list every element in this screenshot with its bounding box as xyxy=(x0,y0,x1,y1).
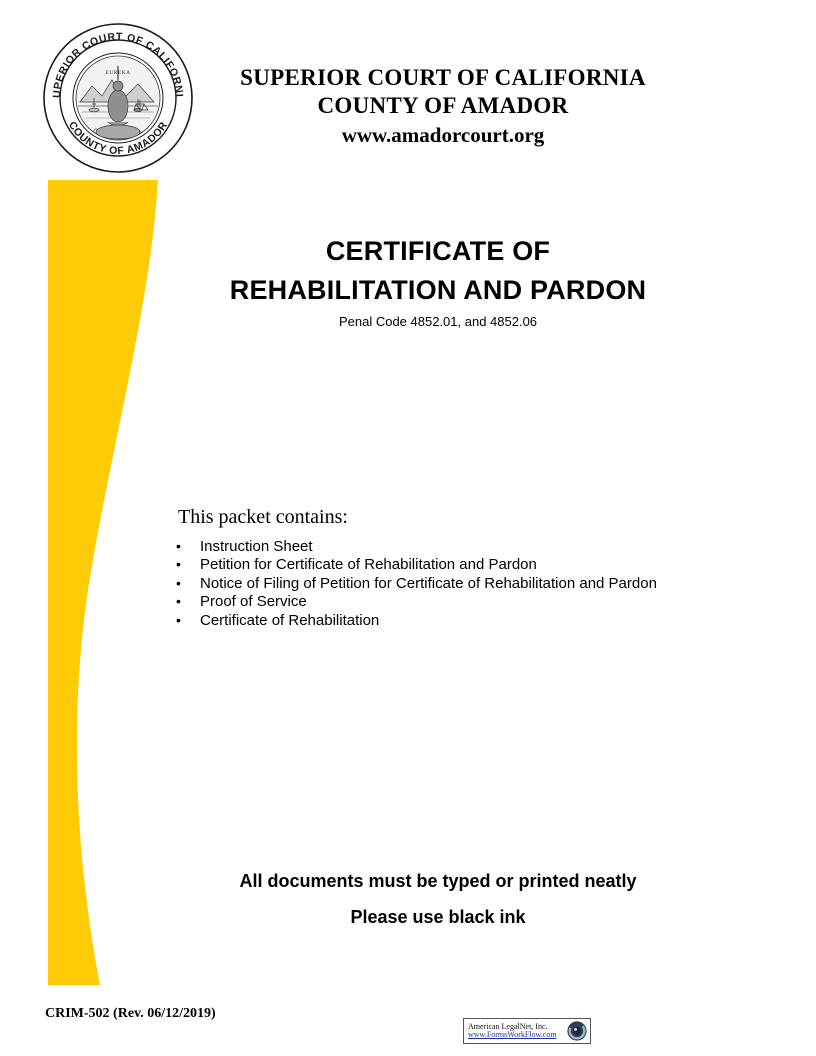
packet-contents-heading: This packet contains: xyxy=(178,506,348,529)
form-number: CRIM-502 (Rev. 06/12/2019) xyxy=(45,1006,216,1022)
county-name: COUNTY OF AMADOR xyxy=(208,92,678,120)
filing-instructions: All documents must be typed or printed n… xyxy=(178,868,698,930)
instruction-line-1: All documents must be typed or printed n… xyxy=(178,868,698,894)
court-seal-icon: SUPERIOR COURT OF CALIFORNIA COUNTY OF A… xyxy=(42,22,194,174)
legalnet-url[interactable]: www.FormsWorkFlow.com xyxy=(468,1031,566,1039)
title-line-1: CERTIFICATE OF xyxy=(178,232,698,271)
court-name: SUPERIOR COURT OF CALIFORNIA xyxy=(208,64,678,92)
american-legalnet-badge[interactable]: American LegalNet, Inc. www.FormsWorkFlo… xyxy=(463,1018,591,1044)
list-item: Petition for Certificate of Rehabilitati… xyxy=(170,556,657,574)
packet-contents-list: Instruction Sheet Petition for Certifica… xyxy=(170,538,657,630)
legalnet-text-block: American LegalNet, Inc. www.FormsWorkFlo… xyxy=(464,1023,566,1040)
title-line-2: REHABILITATION AND PARDON xyxy=(178,271,698,310)
penal-code-subtitle: Penal Code 4852.01, and 4852.06 xyxy=(178,314,698,329)
list-item: Instruction Sheet xyxy=(170,538,657,556)
list-item: Certificate of Rehabilitation xyxy=(170,612,657,630)
legalnet-swirl-icon xyxy=(566,1020,588,1042)
list-item: Proof of Service xyxy=(170,593,657,611)
list-item: Notice of Filing of Petition for Certifi… xyxy=(170,575,657,593)
svg-text:EUREKA: EUREKA xyxy=(105,70,130,76)
document-page: SUPERIOR COURT OF CALIFORNIA COUNTY OF A… xyxy=(0,0,816,1056)
document-title: CERTIFICATE OF REHABILITATION AND PARDON xyxy=(178,232,698,310)
court-website: www.amadorcourt.org xyxy=(208,120,678,150)
court-header: SUPERIOR COURT OF CALIFORNIA COUNTY OF A… xyxy=(208,64,678,150)
instruction-line-2: Please use black ink xyxy=(178,904,698,930)
